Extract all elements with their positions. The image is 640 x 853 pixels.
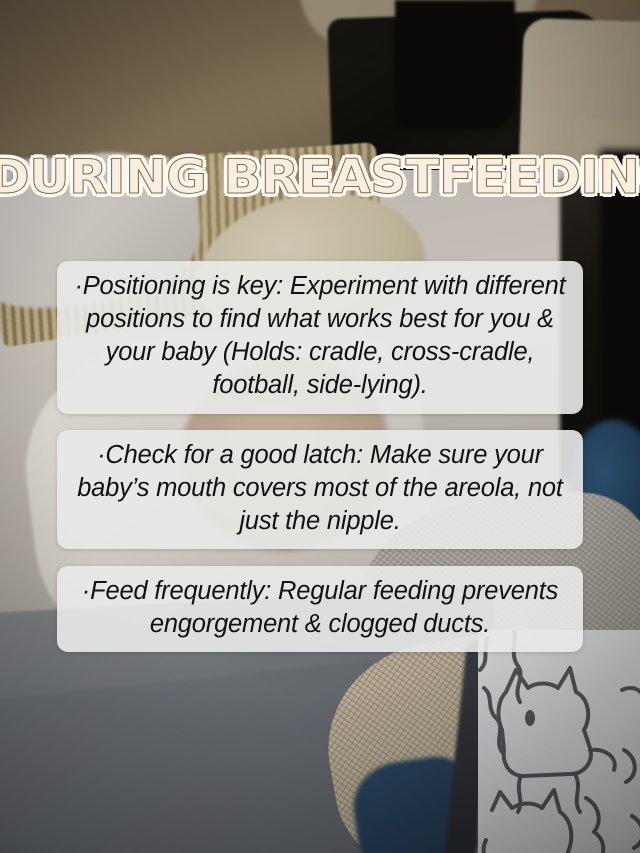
tip-card-positioning: ·Positioning is key: Experiment with dif… xyxy=(57,261,583,414)
page-title: DURING BREASTFEEDING xyxy=(0,148,640,207)
infographic-slide: DURING BREASTFEEDING ·Positioning is key… xyxy=(0,0,640,853)
tip-card-feed-frequently: ·Feed frequently: Regular feeding preven… xyxy=(57,566,583,652)
page-title-text: DURING BREASTFEEDING xyxy=(0,148,640,207)
tip-card-feed-frequently-text: ·Feed frequently: Regular feeding preven… xyxy=(82,577,558,638)
tip-card-positioning-text: ·Positioning is key: Experiment with dif… xyxy=(74,272,565,399)
tip-card-latch-text: ·Check for a good latch: Make sure your … xyxy=(77,441,563,535)
tip-card-latch: ·Check for a good latch: Make sure your … xyxy=(57,430,583,549)
overlay-content: DURING BREASTFEEDING ·Positioning is key… xyxy=(0,0,640,853)
